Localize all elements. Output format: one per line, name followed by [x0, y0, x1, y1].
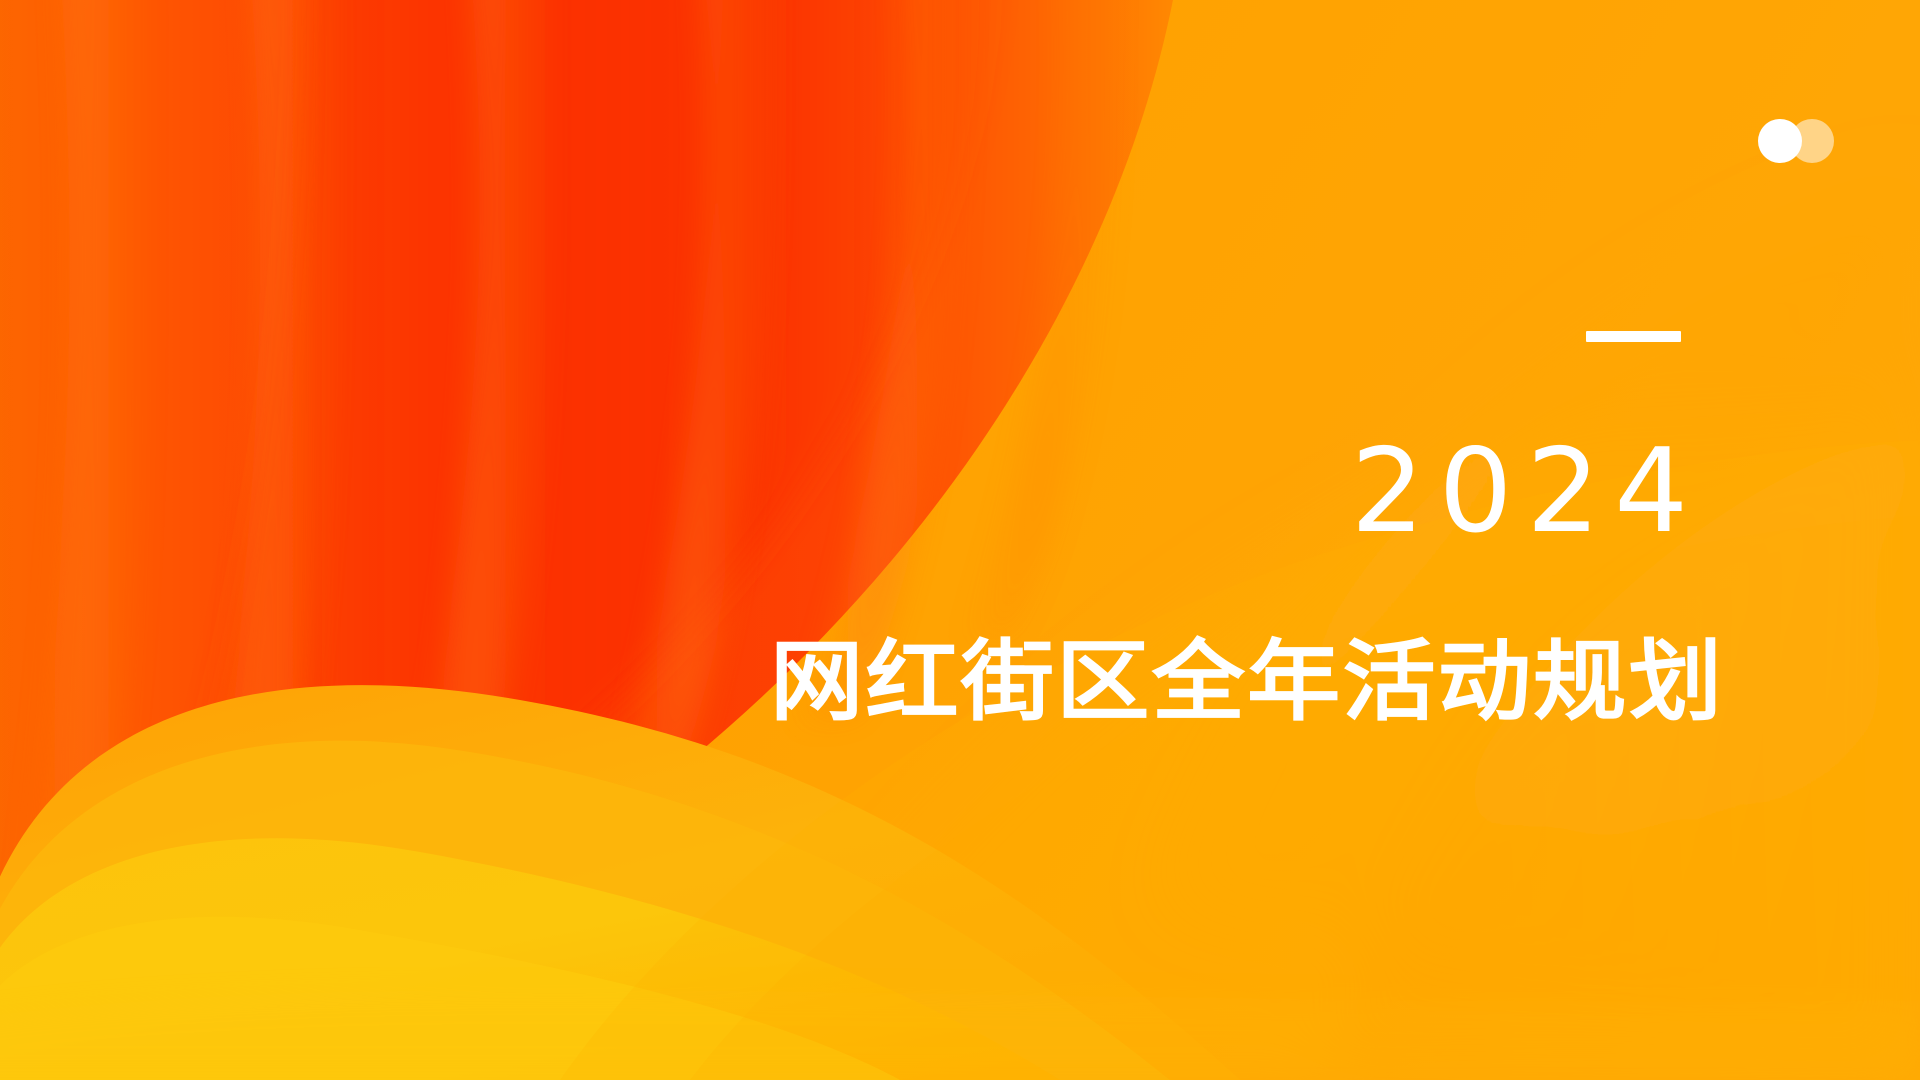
translucent-white-dot — [1790, 119, 1834, 163]
year-label: 2024 — [0, 434, 1702, 550]
cover-slide: 2024 网红街区全年活动规划 — [0, 0, 1920, 1080]
slide-title: 网红街区全年活动规划 — [0, 636, 1724, 728]
decorative-dots — [1758, 119, 1834, 163]
horizontal-white-dash — [1586, 331, 1681, 342]
